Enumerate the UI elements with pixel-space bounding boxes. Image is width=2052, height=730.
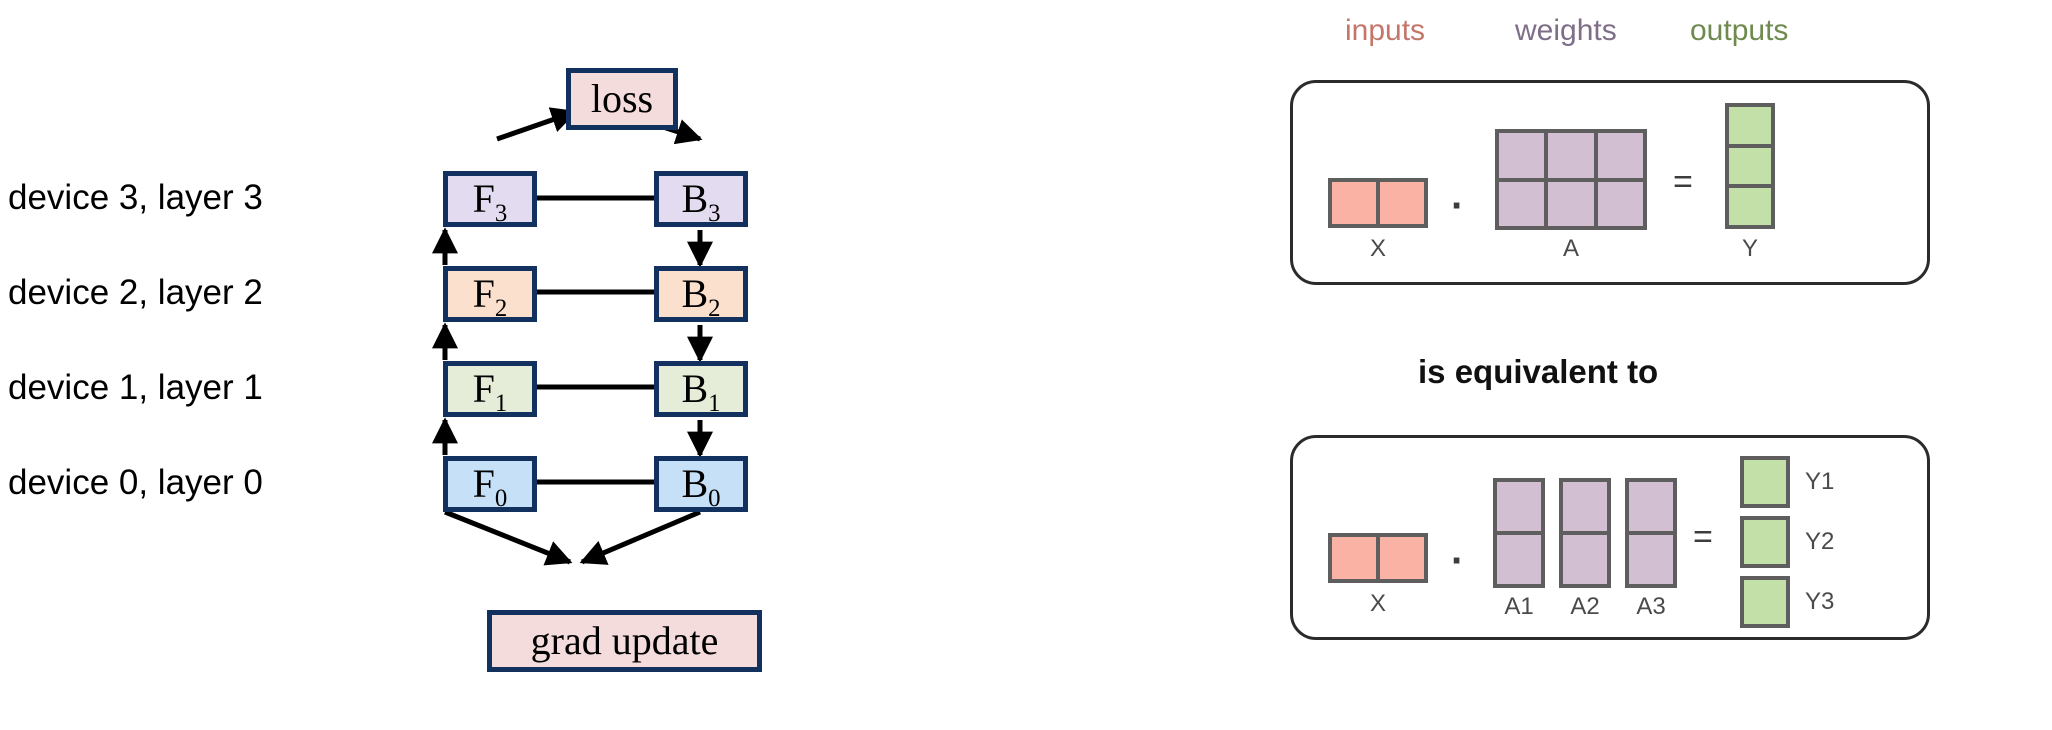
matrix-Y-top: [1725, 103, 1775, 229]
node-F3-label: F3: [473, 179, 508, 219]
device-label-0: device 0, layer 0: [8, 465, 408, 500]
matrix-A2-label: A2: [1559, 593, 1611, 621]
device-label-1: device 1, layer 1: [8, 370, 408, 405]
dot-operator-bottom: ·: [1451, 541, 1464, 581]
matrix-Y3: [1740, 576, 1790, 628]
node-B2-label: B2: [681, 274, 720, 314]
matmul-card-unsharded: X · A =: [1290, 80, 1930, 285]
node-B2: B2: [654, 266, 748, 322]
matrix-Y2-label-text: Y2: [1805, 528, 1834, 555]
matrix-cell: [1499, 133, 1544, 178]
tensor-parallelism-diagram: inputs weights outputs X ·: [1280, 0, 2052, 730]
matrix-cell: [1729, 188, 1771, 225]
matrix-cell: [1548, 182, 1593, 227]
matrix-A-top-label-text: A: [1563, 235, 1579, 262]
matrix-A-top-label: A: [1495, 235, 1647, 263]
matrix-A-top: [1495, 129, 1647, 230]
header-weights-text: weights: [1515, 14, 1617, 47]
matrix-cell: [1380, 182, 1424, 224]
equals-operator-bottom: =: [1693, 520, 1713, 554]
node-F0: F0: [443, 456, 537, 512]
matrix-cell: [1380, 537, 1424, 579]
dot-operator-top-text: ·: [1451, 184, 1464, 228]
matrix-cell: [1332, 182, 1376, 224]
matrix-X-bottom-label-text: X: [1370, 590, 1386, 617]
matrix-X-top-label-text: X: [1370, 235, 1386, 262]
matrix-A3-label: A3: [1625, 593, 1677, 621]
matrix-cell: [1629, 535, 1673, 584]
matrix-cell: [1744, 460, 1786, 504]
matrix-cell: [1563, 482, 1607, 531]
matrix-cell: [1598, 133, 1643, 178]
matrix-cell: [1744, 580, 1786, 624]
matrix-A1-label-text: A1: [1504, 593, 1533, 620]
header-inputs-text: inputs: [1345, 14, 1425, 47]
matrix-A3: [1625, 478, 1677, 588]
matrix-X-top-label: X: [1328, 235, 1428, 263]
grad-update-node-label: grad update: [531, 621, 719, 661]
header-weights: weights: [1515, 14, 1617, 48]
device-label-2-text: device 2, layer 2: [8, 273, 263, 312]
matrix-X-bottom-label: X: [1328, 590, 1428, 618]
matrix-Y2: [1740, 516, 1790, 568]
matrix-cell: [1629, 482, 1673, 531]
header-inputs: inputs: [1345, 14, 1425, 48]
matrix-cell: [1332, 537, 1376, 579]
matrix-cell: [1499, 182, 1544, 227]
matrix-A3-label-text: A3: [1636, 593, 1665, 620]
matrix-Y-top-label-text: Y: [1742, 235, 1758, 262]
device-label-1-text: device 1, layer 1: [8, 368, 263, 407]
matrix-Y1-label: Y1: [1805, 468, 1865, 496]
node-F3: F3: [443, 171, 537, 227]
matrix-A2-label-text: A2: [1570, 593, 1599, 620]
matmul-card-sharded: X · A1 A2: [1290, 435, 1930, 640]
equivalence-label: is equivalent to: [1418, 353, 1658, 391]
node-F1-label: F1: [473, 369, 508, 409]
node-B1-label: B1: [681, 369, 720, 409]
node-B3-label: B3: [681, 179, 720, 219]
grad-update-node: grad update: [487, 610, 762, 672]
equals-operator-top: =: [1673, 165, 1693, 199]
node-B0: B0: [654, 456, 748, 512]
equals-operator-top-text: =: [1673, 163, 1693, 201]
matrix-A1-label: A1: [1493, 593, 1545, 621]
matrix-cell: [1744, 520, 1786, 564]
device-label-3-text: device 3, layer 3: [8, 178, 263, 217]
equivalence-label-text: is equivalent to: [1418, 353, 1658, 390]
device-label-2: device 2, layer 2: [8, 275, 408, 310]
loss-node-label: loss: [591, 79, 653, 119]
node-B1: B1: [654, 361, 748, 417]
matrix-cell: [1548, 133, 1593, 178]
matrix-X-bottom: [1328, 533, 1428, 583]
matrix-Y-top-label: Y: [1725, 235, 1775, 263]
diagram-canvas: device 3, layer 3 device 2, layer 2 devi…: [0, 0, 2052, 730]
matrix-cell: [1497, 535, 1541, 584]
matrix-cell: [1598, 182, 1643, 227]
node-B3: B3: [654, 171, 748, 227]
device-label-0-text: device 0, layer 0: [8, 463, 263, 502]
node-F2: F2: [443, 266, 537, 322]
device-label-3: device 3, layer 3: [8, 180, 408, 215]
node-B0-label: B0: [681, 464, 720, 504]
matrix-Y3-label: Y3: [1805, 588, 1865, 616]
node-F0-label: F0: [473, 464, 508, 504]
matrix-X-top: [1328, 178, 1428, 228]
matrix-Y1: [1740, 456, 1790, 508]
matrix-cell: [1497, 482, 1541, 531]
pipeline-parallelism-diagram: device 3, layer 3 device 2, layer 2 devi…: [0, 0, 900, 730]
matrix-Y1-label-text: Y1: [1805, 468, 1834, 495]
dot-operator-bottom-text: ·: [1451, 539, 1464, 583]
matrix-A1: [1493, 478, 1545, 588]
dot-operator-top: ·: [1451, 186, 1464, 226]
matrix-cell: [1729, 107, 1771, 144]
node-F1: F1: [443, 361, 537, 417]
header-outputs-text: outputs: [1690, 14, 1788, 47]
header-outputs: outputs: [1690, 14, 1788, 48]
matrix-Y3-label-text: Y3: [1805, 588, 1834, 615]
node-F2-label: F2: [473, 274, 508, 314]
matrix-cell: [1729, 148, 1771, 185]
equals-operator-bottom-text: =: [1693, 518, 1713, 556]
loss-node: loss: [566, 68, 678, 130]
matrix-cell: [1563, 535, 1607, 584]
matrix-A2: [1559, 478, 1611, 588]
matrix-Y2-label: Y2: [1805, 528, 1865, 556]
